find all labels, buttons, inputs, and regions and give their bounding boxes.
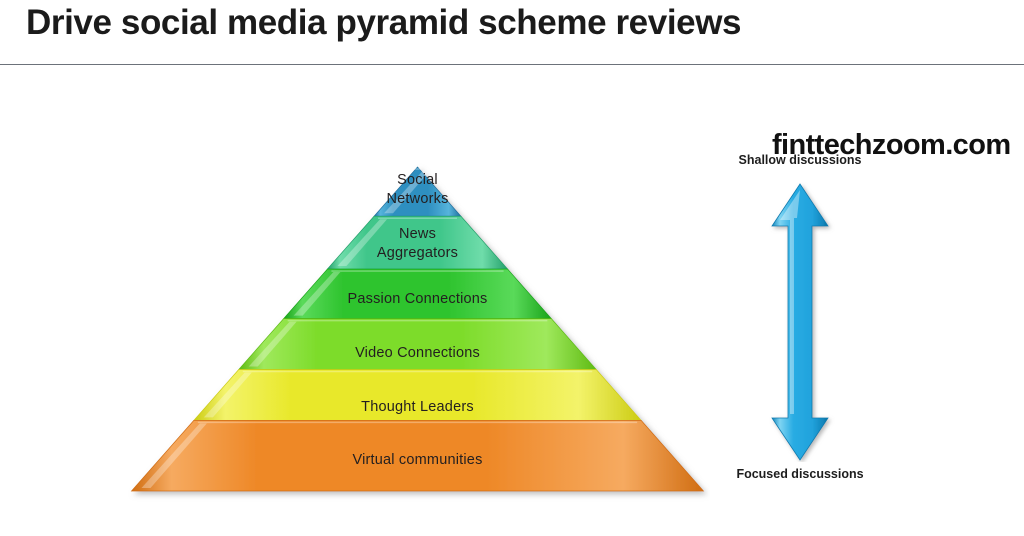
pyramid-shape: [125, 163, 710, 503]
pyramid-diagram: Social Networks News Aggregators Passion…: [125, 163, 710, 503]
diagram-canvas: finttechzoom.com Social Networks News Ag…: [0, 65, 1024, 536]
page-title: Drive social media pyramid scheme review…: [26, 3, 741, 43]
pyramid-tier-6[interactable]: [132, 420, 704, 491]
pyramid-tier-3[interactable]: [284, 269, 552, 319]
discussion-depth-scale: Shallow discussions Focused discussions: [700, 145, 940, 495]
pyramid-tier-2[interactable]: [327, 216, 507, 269]
page-header: Drive social media pyramid scheme review…: [0, 0, 1024, 64]
shallow-discussions-label: Shallow discussions: [700, 153, 900, 167]
focused-discussions-label: Focused discussions: [700, 467, 900, 481]
double-vertical-arrow-icon: [755, 182, 845, 462]
pyramid-tier-1[interactable]: [374, 167, 461, 216]
arrow-body: [772, 184, 828, 460]
pyramid-tier-5[interactable]: [194, 370, 641, 421]
